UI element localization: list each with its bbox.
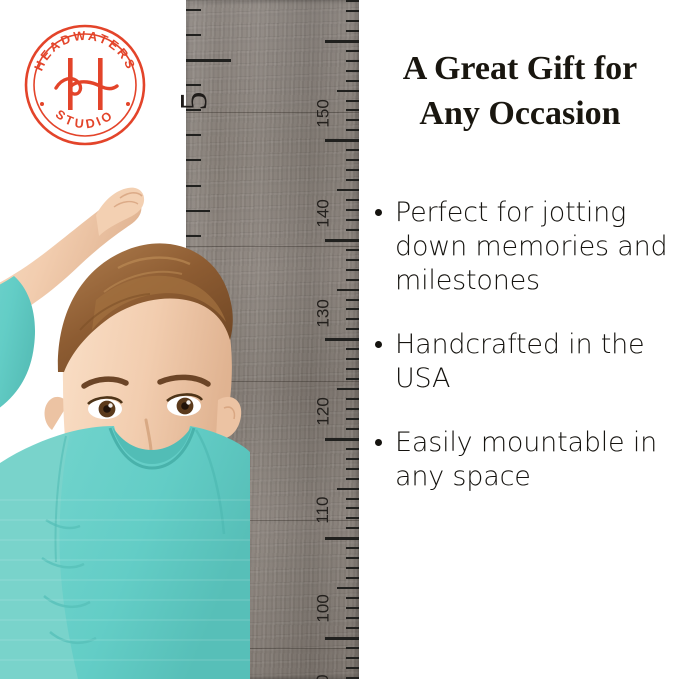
cm-tick — [346, 547, 359, 549]
cm-label: 140 — [313, 199, 333, 227]
cm-tick — [346, 279, 359, 281]
cm-tick — [346, 30, 359, 32]
eye-glint-left — [108, 403, 112, 407]
cm-tick — [346, 10, 359, 12]
cm-tick — [325, 637, 359, 640]
cm-tick — [337, 289, 359, 291]
cm-tick — [346, 498, 359, 500]
cm-tick — [325, 338, 359, 341]
cm-tick — [346, 408, 359, 410]
cm-tick — [346, 348, 359, 350]
cm-tick — [337, 388, 359, 390]
cm-tick — [346, 50, 359, 52]
cm-tick — [346, 269, 359, 271]
cm-tick — [325, 438, 359, 441]
cm-tick — [346, 70, 359, 72]
cm-tick — [346, 119, 359, 121]
cm-tick — [346, 647, 359, 649]
cm-tick — [346, 597, 359, 599]
cm-tick — [346, 199, 359, 201]
cm-tick — [346, 517, 359, 519]
bullet-dot-icon — [375, 341, 382, 348]
feature-bullet-text: Perfect for jotting down memories and mi… — [395, 197, 667, 296]
cm-tick — [346, 169, 359, 171]
cm-tick — [346, 299, 359, 301]
logo-dot-left — [40, 102, 44, 106]
cm-tick — [346, 617, 359, 619]
headline-line-1: A Great Gift for — [403, 50, 637, 87]
cm-tick — [346, 458, 359, 460]
cm-tick — [346, 368, 359, 370]
cm-tick — [346, 398, 359, 400]
cm-tick — [346, 478, 359, 480]
cm-tick — [346, 259, 359, 261]
cm-tick — [346, 468, 359, 470]
headline-line-2: Any Occasion — [419, 95, 620, 132]
cm-tick — [346, 627, 359, 629]
cm-tick — [346, 557, 359, 559]
cm-tick — [337, 488, 359, 490]
cm-label: 120 — [313, 397, 333, 425]
feature-bullet: Perfect for jotting down memories and mi… — [367, 196, 675, 298]
cm-tick — [346, 60, 359, 62]
bullet-dot-icon — [375, 439, 382, 446]
eye-glint-right — [186, 400, 190, 404]
cm-tick — [346, 328, 359, 330]
product-infographic: 15014013012011010090 54 — [0, 0, 679, 679]
cm-tick — [346, 80, 359, 82]
bullet-dot-icon — [375, 209, 382, 216]
cm-label: 90 — [313, 674, 333, 679]
cm-tick — [346, 577, 359, 579]
brand-logo: HEADWATERS STUDIO — [18, 18, 152, 152]
cm-tick — [346, 100, 359, 102]
logo-wave-mark — [56, 79, 117, 94]
feature-bullet-list: Perfect for jotting down memories and mi… — [367, 196, 675, 524]
cm-tick — [346, 358, 359, 360]
cm-label: 110 — [313, 497, 333, 524]
cm-tick — [346, 677, 359, 679]
cm-tick — [346, 448, 359, 450]
feature-bullet: Handcrafted in the USA — [367, 328, 675, 396]
cm-tick — [346, 567, 359, 569]
cm-tick — [337, 90, 359, 92]
cm-tick — [346, 507, 359, 509]
cm-tick — [346, 209, 359, 211]
page-title: A Great Gift for Any Occasion — [370, 47, 670, 137]
cm-tick — [346, 159, 359, 161]
cm-tick — [346, 229, 359, 231]
cm-tick — [346, 428, 359, 430]
logo-bottom-text: STUDIO — [53, 107, 117, 131]
cm-tick — [346, 318, 359, 320]
cm-tick — [346, 0, 359, 2]
cm-tick — [346, 179, 359, 181]
cm-tick — [346, 149, 359, 151]
cm-tick — [346, 378, 359, 380]
cm-tick — [346, 667, 359, 669]
cm-label: 100 — [313, 594, 333, 622]
cm-tick — [337, 587, 359, 589]
logo-dot-right — [126, 102, 130, 106]
cm-tick — [325, 239, 359, 242]
cm-tick — [346, 308, 359, 310]
cm-tick — [337, 189, 359, 191]
cm-tick — [346, 527, 359, 529]
copy-panel: A Great Gift for Any Occasion Perfect fo… — [359, 0, 679, 679]
cm-tick — [325, 139, 359, 142]
cm-tick — [346, 129, 359, 131]
cm-tick — [346, 607, 359, 609]
cm-label: 130 — [313, 299, 333, 327]
cm-tick — [346, 219, 359, 221]
cm-tick — [325, 537, 359, 540]
cm-tick — [346, 249, 359, 251]
ear-right — [216, 397, 241, 439]
cm-tick — [346, 20, 359, 22]
logo-top-text: HEADWATERS — [32, 29, 139, 73]
feature-bullet-text: Handcrafted in the USA — [395, 329, 644, 394]
cm-tick — [346, 109, 359, 111]
cm-tick — [346, 418, 359, 420]
cm-tick — [325, 40, 359, 43]
feature-bullet-text: Easily mountable in any space — [395, 427, 657, 492]
feature-bullet: Easily mountable in any space — [367, 426, 675, 494]
cm-label: 150 — [313, 99, 333, 127]
cm-tick — [346, 657, 359, 659]
